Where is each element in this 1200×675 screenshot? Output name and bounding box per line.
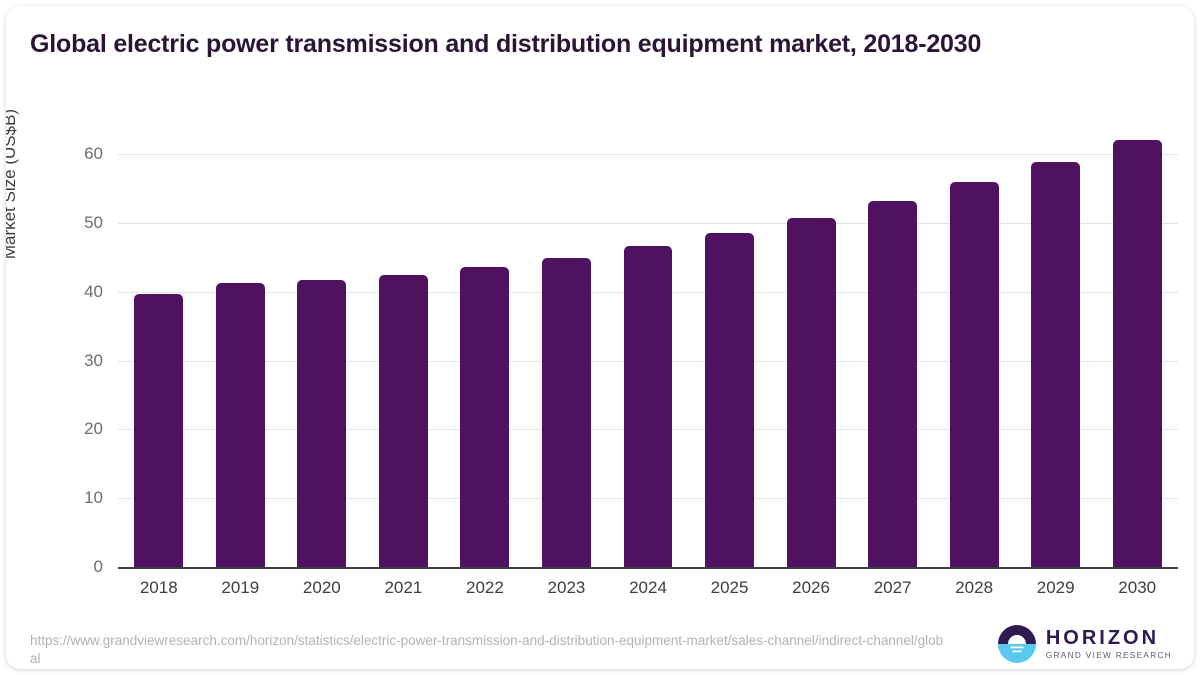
gridline xyxy=(118,154,1178,155)
x-tick-label-2020: 2020 xyxy=(303,578,341,598)
logo-tagline: GRAND VIEW RESEARCH xyxy=(1046,651,1172,661)
y-axis-title: Market Size (US$B) xyxy=(6,24,20,344)
x-tick-label-2030: 2030 xyxy=(1118,578,1156,598)
x-tick-label-2021: 2021 xyxy=(384,578,422,598)
gridline xyxy=(118,223,1178,224)
bar-2030[interactable] xyxy=(1113,140,1162,567)
y-tick-label: 50 xyxy=(84,213,103,233)
y-tick-label: 10 xyxy=(84,488,103,508)
bar-2024[interactable] xyxy=(624,246,673,567)
horizon-logo-text: HORIZON GRAND VIEW RESEARCH xyxy=(1046,628,1172,661)
x-tick-label-2023: 2023 xyxy=(548,578,586,598)
source-url[interactable]: https://www.grandviewresearch.com/horizo… xyxy=(30,632,945,668)
x-tick-label-2018: 2018 xyxy=(140,578,178,598)
x-tick-label-2022: 2022 xyxy=(466,578,504,598)
bar-2029[interactable] xyxy=(1031,162,1080,567)
chart-card: Global electric power transmission and d… xyxy=(6,6,1194,669)
plot-area xyxy=(118,120,1178,567)
y-tick-label: 30 xyxy=(84,351,103,371)
logo-wordmark: HORIZON xyxy=(1046,628,1172,649)
horizon-logo-icon xyxy=(997,624,1037,664)
x-axis-line xyxy=(118,567,1178,569)
x-tick-label-2026: 2026 xyxy=(792,578,830,598)
page-title: Global electric power transmission and d… xyxy=(30,30,981,59)
y-tick-label: 60 xyxy=(84,144,103,164)
y-tick-label: 20 xyxy=(84,419,103,439)
x-tick-label-2019: 2019 xyxy=(221,578,259,598)
bar-2020[interactable] xyxy=(297,280,346,567)
bar-2027[interactable] xyxy=(868,201,917,567)
bar-2025[interactable] xyxy=(705,233,754,567)
x-tick-label-2024: 2024 xyxy=(629,578,667,598)
bar-2028[interactable] xyxy=(950,182,999,567)
x-tick-label-2027: 2027 xyxy=(874,578,912,598)
x-tick-label-2029: 2029 xyxy=(1037,578,1075,598)
bar-2018[interactable] xyxy=(134,294,183,567)
bar-2023[interactable] xyxy=(542,258,591,567)
bar-2021[interactable] xyxy=(379,275,428,567)
bar-2022[interactable] xyxy=(460,267,509,567)
y-tick-label: 0 xyxy=(94,557,103,577)
x-tick-label-2025: 2025 xyxy=(711,578,749,598)
x-axis-tick-labels: 2018201920202021202220232024202520262027… xyxy=(118,578,1178,604)
x-tick-label-2028: 2028 xyxy=(955,578,993,598)
y-tick-label: 40 xyxy=(84,282,103,302)
horizon-logo: HORIZON GRAND VIEW RESEARCH xyxy=(997,624,1172,664)
y-axis-tick-labels: 0102030405060 xyxy=(54,120,104,567)
bar-2026[interactable] xyxy=(787,218,836,567)
bar-2019[interactable] xyxy=(216,283,265,567)
